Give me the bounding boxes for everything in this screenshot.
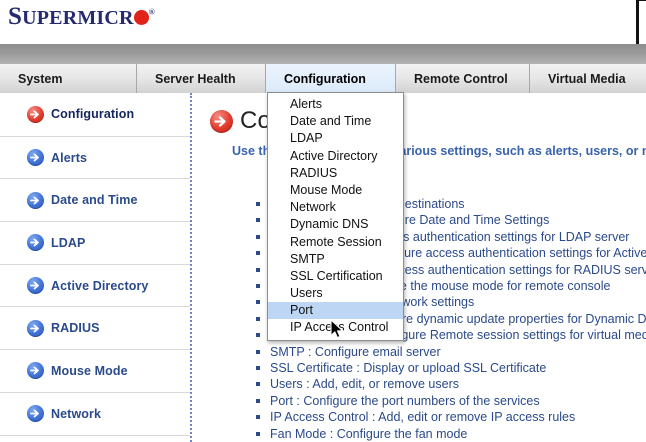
menu-item-smtp[interactable]: SMTP xyxy=(268,251,403,268)
menu-item-label: Mouse Mode xyxy=(290,183,362,197)
sidebar: Configuration Alerts Date and Time LDAP xyxy=(0,93,190,442)
menu-item-active-directory[interactable]: Active Directory xyxy=(268,148,403,165)
list-item: Port : Configure the port numbers of the… xyxy=(256,393,646,409)
header-gradient-band xyxy=(0,44,646,64)
sidebar-item-label: Active Directory xyxy=(51,279,148,293)
list-item-sep: : xyxy=(303,377,313,391)
menu-item-ssl-certification[interactable]: SSL Certification xyxy=(268,268,403,285)
list-item-name: SMTP xyxy=(270,345,305,359)
sidebar-item-label: Configuration xyxy=(51,107,134,121)
menu-item-ldap[interactable]: LDAP xyxy=(268,130,403,147)
list-item-name: Fan Mode xyxy=(270,427,326,441)
menu-item-label: RADIUS xyxy=(290,166,337,180)
menu-item-label: Users xyxy=(290,286,323,300)
menu-item-users[interactable]: Users xyxy=(268,285,403,302)
logo-text-rest: UPERMICR xyxy=(22,7,134,29)
list-item-desc: Add, edit or remove IP access rules xyxy=(378,410,575,424)
sidebar-item-network[interactable]: Network xyxy=(0,392,190,435)
arrow-circle-red-icon xyxy=(210,110,233,133)
window-frame-edge xyxy=(636,0,646,47)
logo-red-dot-icon xyxy=(134,10,149,25)
tab-remote-control-label: Remote Control xyxy=(414,72,508,86)
menu-item-label: Alerts xyxy=(290,97,322,111)
sidebar-item-label: RADIUS xyxy=(51,321,100,335)
list-item-sep: : xyxy=(326,427,336,441)
menu-item-label: Active Directory xyxy=(290,149,378,163)
menu-item-date-and-time[interactable]: Date and Time xyxy=(268,113,403,130)
menu-item-alerts[interactable]: Alerts xyxy=(268,96,403,113)
sidebar-item-active-directory[interactable]: Active Directory xyxy=(0,264,190,307)
menu-item-label: SSL Certification xyxy=(290,269,383,283)
tab-server-health-label: Server Health xyxy=(155,72,236,86)
sidebar-item-dynamic-dns[interactable]: Dynamic DNS xyxy=(0,435,190,442)
menu-item-dynamic-dns[interactable]: Dynamic DNS xyxy=(268,216,403,233)
sidebar-item-date-and-time[interactable]: Date and Time xyxy=(0,178,190,221)
list-item-sep: : xyxy=(368,410,378,424)
arrow-circle-blue-icon xyxy=(27,405,44,422)
logo-text-s: S xyxy=(8,3,22,30)
tab-system[interactable]: System xyxy=(0,64,137,93)
tab-virtual-media-label: Virtual Media xyxy=(548,72,626,86)
list-item-desc: Configure email server xyxy=(315,345,441,359)
sidebar-item-label: Date and Time xyxy=(51,193,138,207)
configuration-dropdown-menu: Alerts Date and Time LDAP Active Directo… xyxy=(267,92,404,341)
arrow-circle-red-icon xyxy=(27,106,44,123)
sidebar-item-label: Alerts xyxy=(51,151,87,165)
arrow-circle-blue-icon xyxy=(27,234,44,251)
list-item-name: SSL Certificate xyxy=(270,361,353,375)
sidebar-item-configuration[interactable]: Configuration xyxy=(0,93,190,136)
sidebar-item-radius[interactable]: RADIUS xyxy=(0,306,190,349)
list-item-desc: Add, edit, or remove users xyxy=(312,377,459,391)
sidebar-item-label: Mouse Mode xyxy=(51,364,128,378)
menu-item-label: Port xyxy=(290,303,313,317)
list-item-desc: Configure access authentication settings… xyxy=(368,246,646,260)
menu-item-label: Network xyxy=(290,200,336,214)
list-item: SMTP : Configure email server xyxy=(256,344,646,360)
tab-configuration[interactable]: Configuration xyxy=(266,64,396,93)
sidebar-item-alerts[interactable]: Alerts xyxy=(0,136,190,179)
arrow-circle-blue-icon xyxy=(27,192,44,209)
list-item-desc: Configure the port numbers of the servic… xyxy=(303,394,539,408)
tab-configuration-label: Configuration xyxy=(284,72,366,86)
menu-item-remote-session[interactable]: Remote Session xyxy=(268,234,403,251)
logo-registered-mark: ® xyxy=(149,8,155,17)
tab-virtual-media[interactable]: Virtual Media xyxy=(530,64,646,93)
arrow-circle-blue-icon xyxy=(27,149,44,166)
main-nav-tabbar: System Server Health Configuration Remot… xyxy=(0,64,646,93)
sidebar-divider xyxy=(190,93,192,442)
menu-item-mouse-mode[interactable]: Mouse Mode xyxy=(268,182,403,199)
list-item-desc: Display or upload SSL Certificate xyxy=(363,361,546,375)
arrow-circle-blue-icon xyxy=(27,362,44,379)
list-item-name: Port xyxy=(270,394,293,408)
menu-item-label: SMTP xyxy=(290,252,325,266)
supermicro-logo[interactable]: SUPERMICR® xyxy=(8,3,155,31)
list-item: IP Access Control : Add, edit or remove … xyxy=(256,409,646,425)
list-item: SSL Certificate : Display or upload SSL … xyxy=(256,360,646,376)
list-item-desc: Configure the fan mode xyxy=(337,427,468,441)
sidebar-item-mouse-mode[interactable]: Mouse Mode xyxy=(0,349,190,392)
browser-page: SUPERMICR® System Server Health Configur… xyxy=(0,0,646,442)
list-item-name: Users xyxy=(270,377,303,391)
menu-item-port[interactable]: Port xyxy=(268,302,403,319)
main-content: Configuration Use this page to configure… xyxy=(196,93,646,442)
menu-item-label: Remote Session xyxy=(290,235,382,249)
arrow-circle-blue-icon xyxy=(27,277,44,294)
menu-item-label: Dynamic DNS xyxy=(290,217,369,231)
menu-item-label: LDAP xyxy=(290,131,323,145)
list-item-name: IP Access Control xyxy=(270,410,368,424)
logo-band: SUPERMICR® xyxy=(0,0,646,44)
tab-remote-control[interactable]: Remote Control xyxy=(396,64,530,93)
menu-item-network[interactable]: Network xyxy=(268,199,403,216)
sidebar-item-ldap[interactable]: LDAP xyxy=(0,221,190,264)
sidebar-item-label: LDAP xyxy=(51,236,85,250)
arrow-circle-blue-icon xyxy=(27,320,44,337)
list-item-sep: : xyxy=(353,361,363,375)
menu-item-radius[interactable]: RADIUS xyxy=(268,165,403,182)
tab-server-health[interactable]: Server Health xyxy=(137,64,266,93)
list-item-sep: : xyxy=(293,394,303,408)
list-item: Users : Add, edit, or remove users xyxy=(256,376,646,392)
tab-system-label: System xyxy=(18,72,62,86)
menu-item-label: Date and Time xyxy=(290,114,371,128)
sidebar-item-label: Network xyxy=(51,407,101,421)
list-item: Fan Mode : Configure the fan mode xyxy=(256,426,646,442)
list-item-sep: : xyxy=(305,345,315,359)
mouse-cursor xyxy=(330,319,346,341)
list-item-desc: Configure Remote session settings for vi… xyxy=(372,328,646,342)
